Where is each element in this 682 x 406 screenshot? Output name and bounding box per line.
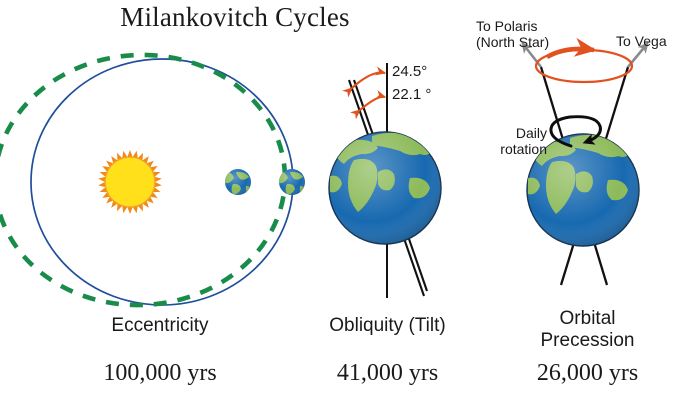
- obliquity-arc-min: [360, 97, 385, 110]
- earth-globe-obliquity: [329, 132, 441, 244]
- precession-caption-name-line1: Orbital: [500, 308, 675, 330]
- daily-rotation-label: Daily rotation: [483, 125, 547, 157]
- eccentricity-caption-name: Eccentricity: [50, 315, 270, 337]
- milankovitch-cycles-figure: Milankovitch Cycles: [0, 0, 682, 406]
- obliquity-caption-period: 41,000 yrs: [300, 360, 475, 387]
- precession-direction-arrow: [547, 49, 594, 57]
- precession-caption-name: Orbital Precession: [500, 308, 675, 352]
- precession-panel-graphic: [523, 44, 647, 285]
- to-polaris-line1: To Polaris: [476, 18, 549, 34]
- earth-on-present-orbit: [279, 169, 306, 195]
- to-polaris-label: To Polaris (North Star): [476, 18, 549, 50]
- daily-rotation-line1: Daily: [483, 125, 547, 141]
- eccentricity-panel-graphic: [0, 48, 306, 313]
- precession-caption-name-line2: Precession: [500, 330, 675, 352]
- earth-on-eccentric-orbit: [225, 169, 252, 195]
- obliquity-max-angle-label: 24.5°: [392, 63, 427, 80]
- to-polaris-line2: (North Star): [476, 34, 549, 50]
- daily-rotation-line2: rotation: [483, 141, 547, 157]
- obliquity-min-angle-label: 22.1 °: [392, 86, 431, 103]
- to-vega-label: To Vega: [616, 33, 667, 49]
- precession-caption-period: 26,000 yrs: [500, 360, 675, 387]
- eccentricity-caption-period: 100,000 yrs: [50, 360, 270, 387]
- sun-icon: [98, 150, 162, 214]
- obliquity-caption-name: Obliquity (Tilt): [300, 315, 475, 337]
- orbit-present-day: [31, 59, 293, 305]
